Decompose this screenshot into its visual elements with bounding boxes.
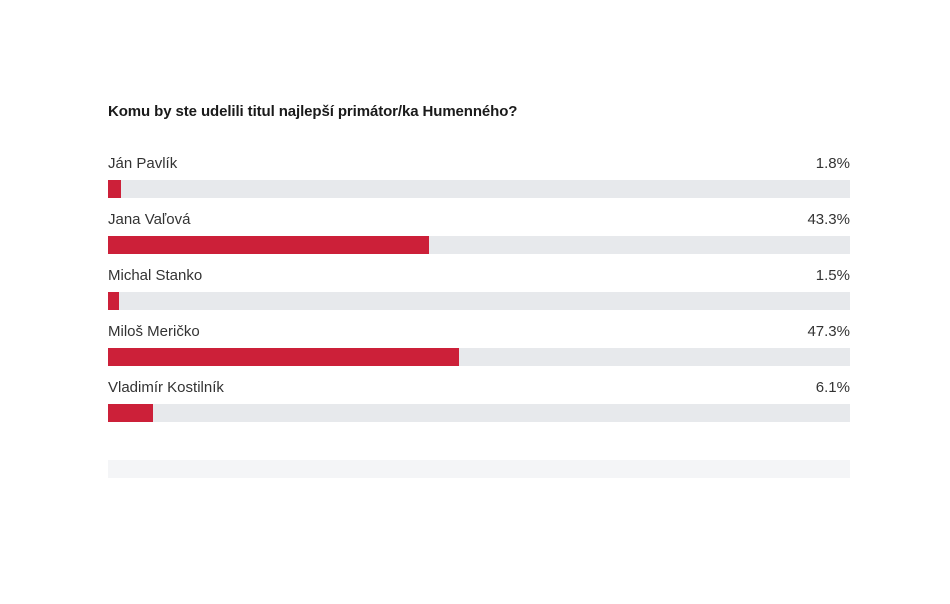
- poll-option-percentage: 6.1%: [816, 378, 850, 398]
- poll-results-list: Ján Pavlík1.8%Jana Vaľová43.3%Michal Sta…: [108, 154, 850, 490]
- poll-row-header: Jana Vaľová43.3%: [108, 210, 850, 234]
- poll-row-header: Vladimír Kostilník6.1%: [108, 378, 850, 402]
- poll-bar-track: [108, 404, 850, 422]
- poll-row[interactable]: Ján Pavlík1.8%: [108, 154, 850, 210]
- poll-option-label: Miloš Meričko: [108, 322, 200, 342]
- poll-bar-fill: [108, 404, 153, 422]
- poll-bar-fill: [108, 236, 429, 254]
- poll-bar-fill: [108, 180, 121, 198]
- poll-row[interactable]: Miloš Meričko47.3%: [108, 322, 850, 378]
- poll-option-label: Jana Vaľová: [108, 210, 191, 230]
- poll-row-header: Miloš Meričko47.3%: [108, 322, 850, 346]
- poll-row[interactable]: Vladimír Kostilník6.1%: [108, 378, 850, 434]
- poll-option-percentage: 47.3%: [807, 322, 850, 342]
- poll-row-header: [108, 434, 850, 458]
- poll-bar-fill: [108, 348, 459, 366]
- poll-bar-track: [108, 348, 850, 366]
- poll-option-label: Ján Pavlík: [108, 154, 177, 174]
- poll-bar-track: [108, 236, 850, 254]
- poll-row-header: Michal Stanko1.5%: [108, 266, 850, 290]
- poll-bar-track: [108, 180, 850, 198]
- poll-option-percentage: 1.8%: [816, 154, 850, 174]
- poll-option-percentage: 43.3%: [807, 210, 850, 230]
- poll-bar-fill: [108, 292, 119, 310]
- poll-option-percentage: 1.5%: [816, 266, 850, 286]
- poll-row-empty[interactable]: [108, 434, 850, 490]
- poll-row[interactable]: Michal Stanko1.5%: [108, 266, 850, 322]
- poll-bar-track: [108, 292, 850, 310]
- poll-option-label: Vladimír Kostilník: [108, 378, 224, 398]
- poll-row[interactable]: Jana Vaľová43.3%: [108, 210, 850, 266]
- poll-question: Komu by ste udelili titul najlepší primá…: [108, 103, 517, 120]
- poll-bar-track: [108, 460, 850, 478]
- poll-option-label: Michal Stanko: [108, 266, 202, 286]
- poll-row-header: Ján Pavlík1.8%: [108, 154, 850, 178]
